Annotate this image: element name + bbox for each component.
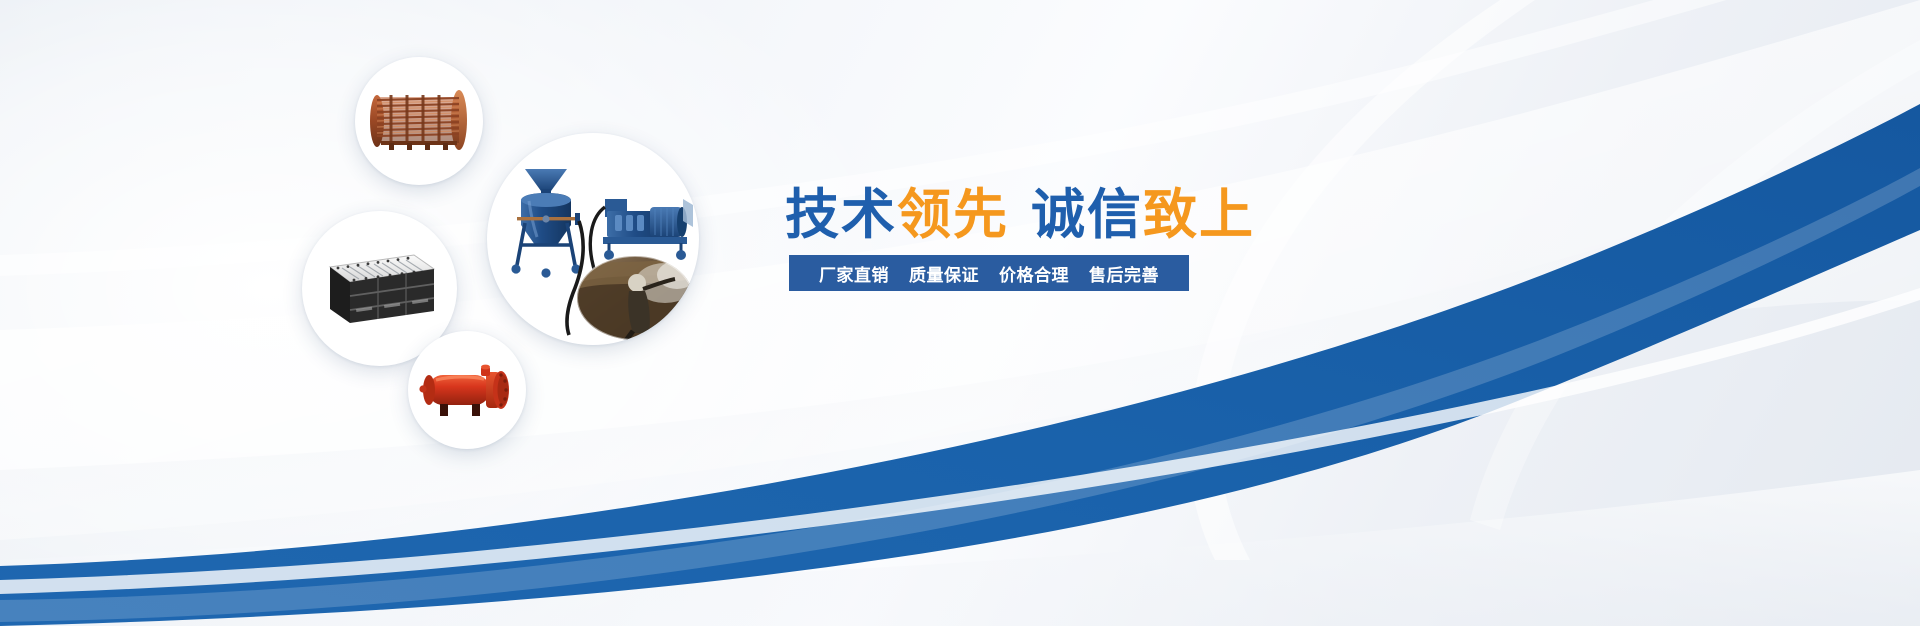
product-circle-copper-tube-bundle	[355, 57, 483, 185]
feature-item-3: 售后完善	[1089, 261, 1159, 286]
headline-part2-blue: 诚信	[1031, 185, 1143, 245]
feature-item-0: 厂家直销	[819, 261, 889, 286]
background-decoration	[0, 0, 1920, 626]
red-heat-exchanger-icon	[408, 331, 526, 449]
feature-item-1: 质量保证	[909, 261, 979, 286]
feature-item-2: 价格合理	[999, 261, 1069, 286]
headline-part1-blue: 技术	[785, 185, 897, 245]
feature-bar: 厂家直销 质量保证 价格合理 售后完善	[789, 255, 1189, 291]
headline-part2-orange: 致上	[1143, 185, 1255, 245]
product-circle-sandblasting-cleaning	[487, 133, 699, 345]
marketing-banner: 技术领先诚信致上 厂家直销 质量保证 价格合理 售后完善	[0, 0, 1920, 626]
sandblasting-highpressure-icon	[487, 133, 699, 345]
copper-tube-bundle-icon	[355, 57, 483, 185]
headline-part1-orange: 领先	[897, 185, 1009, 245]
product-circle-red-heat-exchanger	[408, 331, 526, 449]
headline: 技术领先诚信致上	[785, 188, 1255, 242]
